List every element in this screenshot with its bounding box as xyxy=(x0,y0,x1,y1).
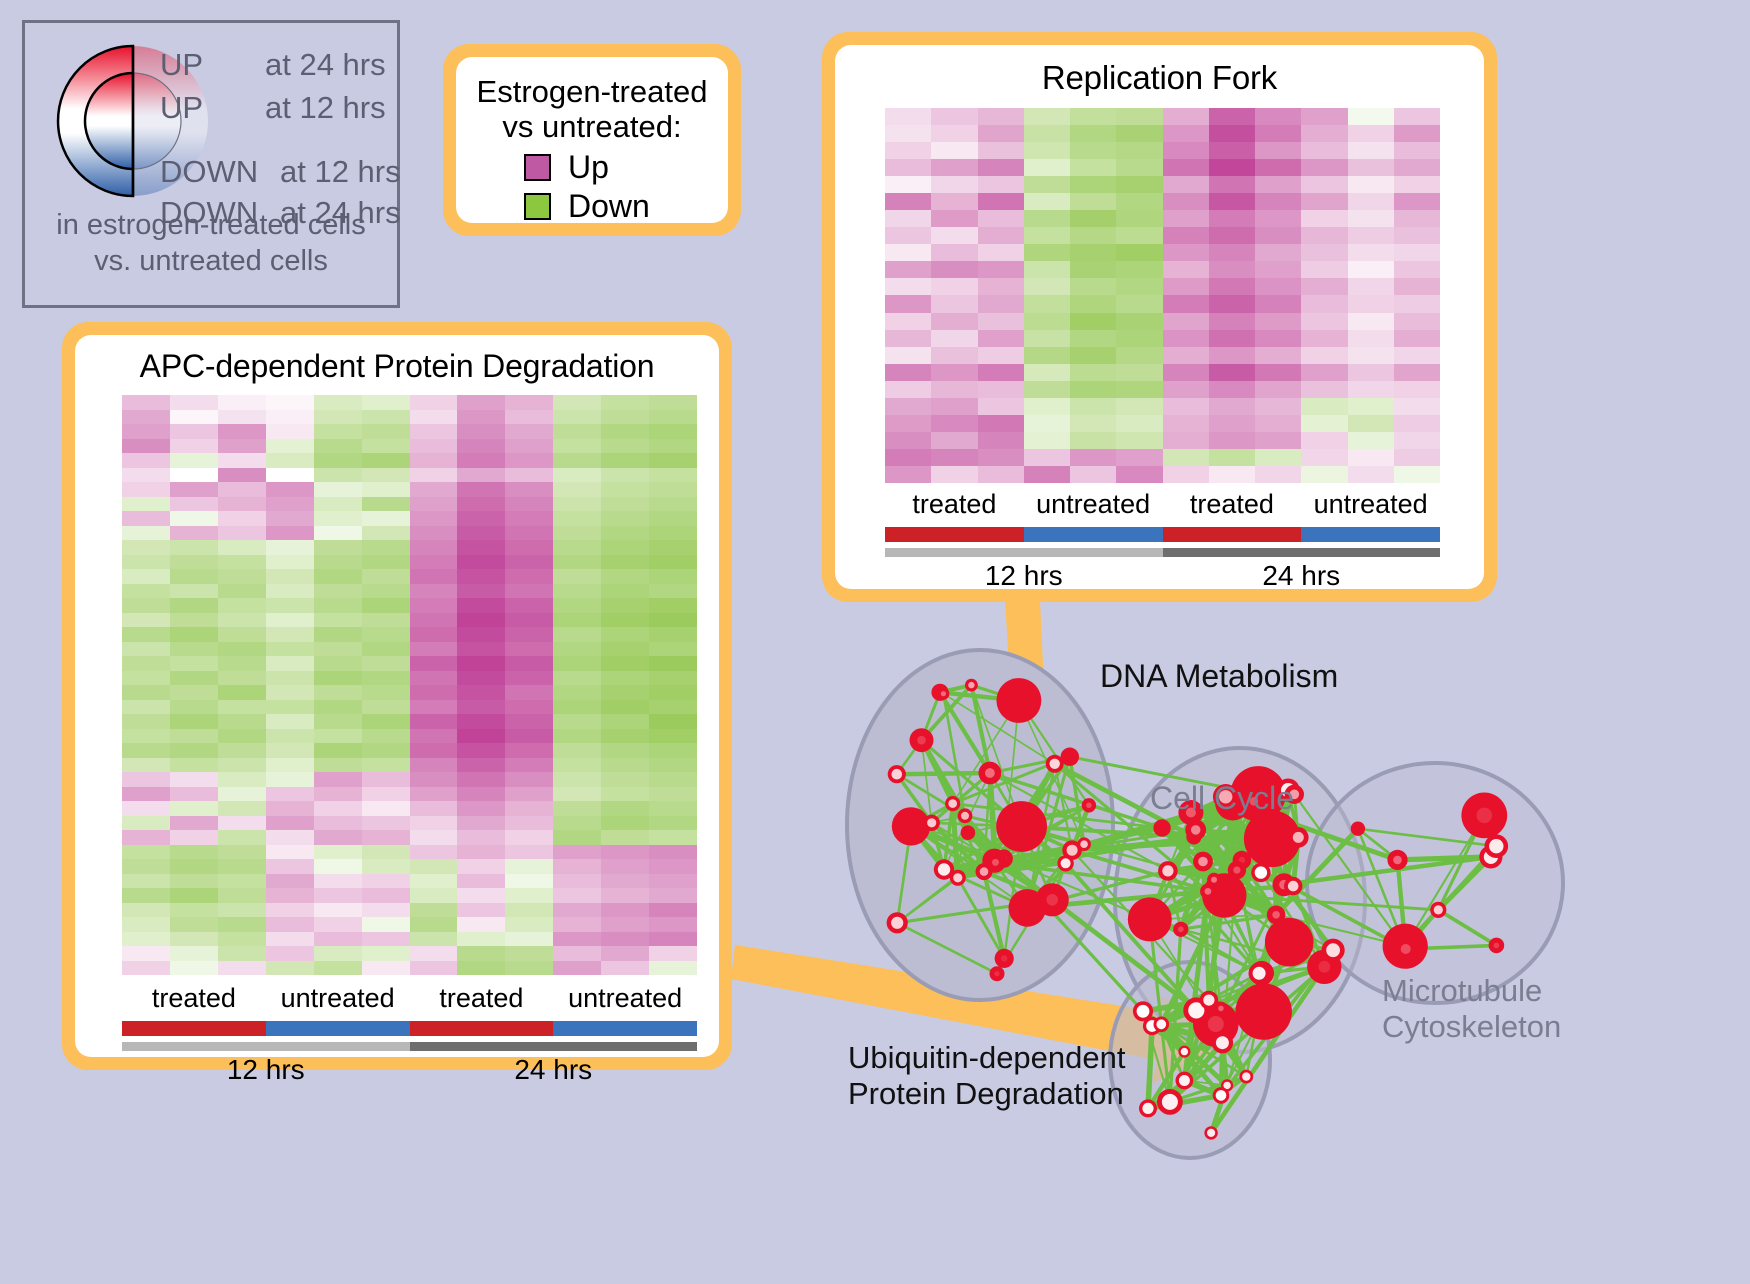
heatmap-cell xyxy=(362,424,410,439)
heatmap-cell xyxy=(457,816,505,831)
heatmap-cell xyxy=(362,946,410,961)
heatmap-cell xyxy=(885,176,931,193)
heatmap-cell xyxy=(170,584,218,599)
heatmap-cell xyxy=(362,410,410,425)
network-node[interactable] xyxy=(1267,906,1286,925)
heatmap-cell xyxy=(218,874,266,889)
network-node[interactable] xyxy=(995,949,1014,968)
heatmap-cell xyxy=(410,439,458,454)
heatmap-cell xyxy=(1394,295,1440,312)
node-core xyxy=(1046,894,1058,906)
heatmap-cell xyxy=(170,816,218,831)
heatmap-cell xyxy=(978,278,1024,295)
heatmap-cell xyxy=(553,497,601,512)
heatmap-cell xyxy=(553,627,601,642)
heatmap-cell xyxy=(649,685,697,700)
network-node[interactable] xyxy=(950,870,966,886)
node-core xyxy=(1477,808,1493,824)
heatmap-cell xyxy=(122,859,170,874)
heatmap-cell xyxy=(122,946,170,961)
network-node[interactable] xyxy=(1236,983,1292,1039)
heatmap-cell xyxy=(1394,432,1440,449)
network-node[interactable] xyxy=(1485,834,1509,858)
network-node[interactable] xyxy=(1185,820,1206,841)
heatmap-cell xyxy=(122,627,170,642)
heatmap-cell xyxy=(122,845,170,860)
heatmap-cell xyxy=(553,598,601,613)
heatmap-cell xyxy=(649,526,697,541)
node-core xyxy=(961,812,969,820)
node-core xyxy=(1178,926,1184,932)
legend-value-up-24: at 24 hrs xyxy=(265,47,386,83)
replication-fork-heatmap xyxy=(885,108,1440,483)
heatmap-cell xyxy=(1348,176,1394,193)
heatmap-cell xyxy=(218,903,266,918)
heatmap-cell xyxy=(649,845,697,860)
heatmap-cell xyxy=(1301,347,1347,364)
network-node[interactable] xyxy=(1263,823,1285,845)
network-node[interactable] xyxy=(997,678,1042,723)
condition-bar-segment xyxy=(410,1021,554,1036)
node-core xyxy=(1253,967,1266,980)
heatmap-cell xyxy=(314,569,362,584)
node-core xyxy=(1086,803,1092,809)
heatmap-cell xyxy=(885,449,931,466)
heatmap-cell xyxy=(170,555,218,570)
heatmap-cell xyxy=(314,917,362,932)
network-node[interactable] xyxy=(1153,819,1170,836)
heatmap-cell xyxy=(362,671,410,686)
heatmap-cell xyxy=(505,917,553,932)
heatmap-cell xyxy=(314,642,362,657)
heatmap-cell xyxy=(1255,261,1301,278)
heatmap-cell xyxy=(649,830,697,845)
node-core xyxy=(917,736,926,745)
heatmap-cell xyxy=(266,642,314,657)
node-ring xyxy=(1061,748,1079,766)
heatmap-cell xyxy=(1209,125,1255,142)
network-edge xyxy=(1398,857,1491,860)
heatmap-cell xyxy=(1348,125,1394,142)
heatmap-cell xyxy=(505,830,553,845)
heatmap-cell xyxy=(170,540,218,555)
network-node[interactable] xyxy=(1128,897,1172,941)
network-node[interactable] xyxy=(937,688,949,700)
heatmap-cell xyxy=(1070,210,1116,227)
heatmap-cell xyxy=(1024,381,1070,398)
heatmap-cell xyxy=(553,540,601,555)
heatmap-cell xyxy=(266,424,314,439)
node-ring xyxy=(1153,819,1170,836)
heatmap-cell xyxy=(1301,244,1347,261)
heatmap-cell xyxy=(1301,210,1347,227)
network-node[interactable] xyxy=(965,679,978,692)
heatmap-cell xyxy=(457,482,505,497)
network-node[interactable] xyxy=(1200,991,1219,1010)
up-color-swatch xyxy=(524,154,551,181)
heatmap-cell xyxy=(931,466,977,483)
network-node[interactable] xyxy=(1212,1032,1233,1053)
heatmap-cell xyxy=(601,917,649,932)
heatmap-cell xyxy=(1301,261,1347,278)
heatmap-cell xyxy=(1209,108,1255,125)
network-node[interactable] xyxy=(1393,936,1419,962)
heatmap-cell xyxy=(1024,295,1070,312)
heatmap-cell xyxy=(553,569,601,584)
heatmap-cell xyxy=(601,729,649,744)
heatmap-cell xyxy=(1209,347,1255,364)
heatmap-cell xyxy=(1070,142,1116,159)
node-core xyxy=(891,917,903,929)
heatmap-cell xyxy=(1255,398,1301,415)
heatmap-cell xyxy=(1163,330,1209,347)
node-ring xyxy=(1263,823,1285,845)
heatmap-cell xyxy=(1255,210,1301,227)
heatmap-cell xyxy=(410,395,458,410)
heatmap-cell xyxy=(314,511,362,526)
heatmap-cell xyxy=(601,598,649,613)
heatmap-cell xyxy=(1163,142,1209,159)
heatmap-cell xyxy=(553,729,601,744)
heatmap-cell xyxy=(931,261,977,278)
heatmap-cell xyxy=(266,917,314,932)
network-node[interactable] xyxy=(887,912,908,933)
network-node[interactable] xyxy=(1009,889,1047,927)
heatmap-cell xyxy=(649,453,697,468)
heatmap-cell xyxy=(553,671,601,686)
heatmap-cell xyxy=(362,497,410,512)
network-node[interactable] xyxy=(1251,863,1270,882)
heatmap-cell xyxy=(1255,193,1301,210)
time-bar-segment xyxy=(1163,548,1441,557)
network-node[interactable] xyxy=(979,762,1002,785)
heatmap-cell xyxy=(1348,295,1394,312)
heatmap-cell xyxy=(410,961,458,976)
heatmap-cell xyxy=(1116,210,1162,227)
heatmap-cell xyxy=(457,439,505,454)
heatmap-cell xyxy=(1348,244,1394,261)
heatmap-cell xyxy=(122,526,170,541)
network-node[interactable] xyxy=(1193,852,1213,872)
network-node[interactable] xyxy=(1178,1046,1190,1058)
heatmap-cell xyxy=(649,439,697,454)
network-node[interactable] xyxy=(945,796,960,811)
heatmap-cell xyxy=(601,569,649,584)
network-node[interactable] xyxy=(1265,918,1314,967)
heatmap-cell xyxy=(314,932,362,947)
heatmap-cell xyxy=(649,671,697,686)
heatmap-cell xyxy=(931,381,977,398)
heatmap-cell xyxy=(218,743,266,758)
heatmap-cell xyxy=(122,424,170,439)
heatmap-cell xyxy=(170,772,218,787)
node-core xyxy=(1401,944,1411,954)
heatmap-cell xyxy=(885,432,931,449)
heatmap-cell xyxy=(1348,398,1394,415)
heatmap-cell xyxy=(362,845,410,860)
heatmap-cell xyxy=(505,859,553,874)
heatmap-cell xyxy=(1024,330,1070,347)
heatmap-cell xyxy=(457,526,505,541)
heatmap-cell xyxy=(931,295,977,312)
heatmap-cell xyxy=(362,685,410,700)
heatmap-cell xyxy=(1116,108,1162,125)
heatmap-cell xyxy=(218,439,266,454)
heatmap-cell xyxy=(410,772,458,787)
network-node[interactable] xyxy=(888,765,906,783)
heatmap-cell xyxy=(1024,347,1070,364)
network-node[interactable] xyxy=(996,801,1047,852)
heatmap-cell xyxy=(170,627,218,642)
heatmap-cell xyxy=(1255,415,1301,432)
heatmap-cell xyxy=(978,381,1024,398)
heatmap-cell xyxy=(649,729,697,744)
network-svg xyxy=(770,600,1750,1279)
heatmap-cell xyxy=(1394,193,1440,210)
heatmap-cell xyxy=(1255,278,1301,295)
heatmap-cell xyxy=(314,685,362,700)
node-core xyxy=(1207,1129,1215,1137)
heatmap-cell xyxy=(553,526,601,541)
heatmap-cell xyxy=(314,439,362,454)
heatmap-cell xyxy=(457,671,505,686)
heatmap-cell xyxy=(170,903,218,918)
heatmap-cell xyxy=(266,903,314,918)
heatmap-cell xyxy=(553,656,601,671)
heatmap-cell xyxy=(266,685,314,700)
heatmap-cell xyxy=(649,772,697,787)
heatmap-cell xyxy=(266,453,314,468)
heatmap-cell xyxy=(978,108,1024,125)
network-node[interactable] xyxy=(1057,855,1073,871)
heatmap-cell xyxy=(601,816,649,831)
heatmap-cell xyxy=(1116,466,1162,483)
network-node[interactable] xyxy=(1176,1072,1194,1090)
heatmap-cell xyxy=(266,801,314,816)
heatmap-cell xyxy=(410,555,458,570)
heatmap-cell xyxy=(218,656,266,671)
heatmap-cell xyxy=(266,772,314,787)
network-node[interactable] xyxy=(1139,1099,1157,1117)
heatmap-cell xyxy=(1070,466,1116,483)
node-core xyxy=(980,867,989,876)
network-node[interactable] xyxy=(1387,850,1407,870)
heatmap-cell xyxy=(1024,364,1070,381)
heatmap-cell xyxy=(457,772,505,787)
network-node[interactable] xyxy=(1204,1126,1217,1139)
network-node[interactable] xyxy=(1284,877,1302,895)
heatmap-cell xyxy=(601,801,649,816)
heatmap-cell xyxy=(1070,108,1116,125)
panel-apc-degradation: APC-dependent Protein Degradation treate… xyxy=(62,322,732,1070)
condition-bar-segment xyxy=(122,1021,266,1036)
heatmap-cell xyxy=(1255,125,1301,142)
network-node[interactable] xyxy=(1213,1087,1230,1104)
time-bar-segment xyxy=(410,1042,698,1051)
heatmap-cell xyxy=(1394,244,1440,261)
heatmap-cell xyxy=(218,584,266,599)
heatmap-cell xyxy=(457,642,505,657)
heatmap-cell xyxy=(1163,125,1209,142)
heatmap-cell xyxy=(122,816,170,831)
heatmap-cell xyxy=(1301,466,1347,483)
heatmap-cell xyxy=(218,424,266,439)
heatmap-cell xyxy=(314,816,362,831)
heatmap-cell xyxy=(266,932,314,947)
heatmap-cell xyxy=(1394,227,1440,244)
heatmap-cell xyxy=(122,917,170,932)
heatmap-cell xyxy=(410,787,458,802)
condition-label: untreated xyxy=(266,983,410,1014)
heatmap-cell xyxy=(362,540,410,555)
heatmap-cell xyxy=(314,961,362,976)
network-node[interactable] xyxy=(990,966,1005,981)
heatmap-cell xyxy=(1116,381,1162,398)
heatmap-cell xyxy=(170,743,218,758)
time-bar-segment xyxy=(122,1042,410,1051)
network-node[interactable] xyxy=(1228,861,1246,879)
heatmap-cell xyxy=(978,398,1024,415)
heatmap-cell xyxy=(553,801,601,816)
heatmap-cell xyxy=(649,497,697,512)
condition-bar-segment xyxy=(1301,527,1440,542)
legend-key-up-24: UP xyxy=(160,47,203,83)
node-core xyxy=(1434,905,1443,914)
heatmap-cell xyxy=(457,714,505,729)
heatmap-cell xyxy=(1163,466,1209,483)
heatmap-cell xyxy=(1348,193,1394,210)
network-node[interactable] xyxy=(958,808,973,823)
heatmap-cell xyxy=(1070,381,1116,398)
heatmap-cell xyxy=(410,468,458,483)
heatmap-cell xyxy=(1163,193,1209,210)
network-node[interactable] xyxy=(1489,938,1505,954)
heatmap-cell xyxy=(553,758,601,773)
heatmap-cell xyxy=(218,671,266,686)
heatmap-cell xyxy=(1394,398,1440,415)
network-node[interactable] xyxy=(1077,837,1091,851)
replication-fork-title: Replication Fork xyxy=(835,45,1484,97)
network-node[interactable] xyxy=(961,825,976,840)
heatmap-cell xyxy=(314,453,362,468)
network-node[interactable] xyxy=(1239,1070,1253,1084)
heatmap-cell xyxy=(410,859,458,874)
network-node[interactable] xyxy=(1082,798,1096,812)
estrogen-legend-title-line2: vs untreated: xyxy=(466,110,718,145)
heatmap-cell xyxy=(885,278,931,295)
heatmap-cell xyxy=(362,555,410,570)
heatmap-cell xyxy=(885,330,931,347)
network-node[interactable] xyxy=(1154,1017,1170,1033)
condition-label: treated xyxy=(122,983,266,1014)
heatmap-cell xyxy=(314,830,362,845)
network-node[interactable] xyxy=(1249,963,1270,984)
heatmap-cell xyxy=(170,410,218,425)
legend-value-down-12: at 12 hrs xyxy=(280,154,401,190)
heatmap-cell xyxy=(601,656,649,671)
heatmap-cell xyxy=(266,468,314,483)
heatmap-cell xyxy=(1255,466,1301,483)
heatmap-cell xyxy=(218,845,266,860)
heatmap-cell xyxy=(170,946,218,961)
heatmap-cell xyxy=(1070,278,1116,295)
heatmap-cell xyxy=(170,482,218,497)
network-node[interactable] xyxy=(1288,827,1309,848)
heatmap-cell xyxy=(457,598,505,613)
heatmap-cell xyxy=(1301,398,1347,415)
heatmap-cell xyxy=(505,410,553,425)
heatmap-cell xyxy=(362,598,410,613)
heatmap-cell xyxy=(885,347,931,364)
heatmap-cell xyxy=(505,468,553,483)
heatmap-cell xyxy=(1163,227,1209,244)
heatmap-cell xyxy=(410,424,458,439)
network-node[interactable] xyxy=(1322,939,1345,962)
network-node[interactable] xyxy=(1351,822,1365,836)
heatmap-cell xyxy=(122,453,170,468)
node-core xyxy=(941,691,946,696)
heatmap-cell xyxy=(362,816,410,831)
heatmap-cell xyxy=(1348,432,1394,449)
heatmap-cell xyxy=(314,700,362,715)
network-node[interactable] xyxy=(924,815,940,831)
network-node[interactable] xyxy=(910,728,934,752)
heatmap-cell xyxy=(218,526,266,541)
network-node[interactable] xyxy=(1461,793,1507,839)
heatmap-cell xyxy=(457,859,505,874)
network-node[interactable] xyxy=(1061,748,1079,766)
replication-time-labels: 12 hrs24 hrs xyxy=(885,560,1440,592)
node-core xyxy=(953,873,962,882)
network-node[interactable] xyxy=(1157,1089,1183,1115)
heatmap-cell xyxy=(266,555,314,570)
node-core xyxy=(1198,857,1208,867)
network-node[interactable] xyxy=(1158,861,1178,881)
heatmap-cell xyxy=(1116,159,1162,176)
network-node[interactable] xyxy=(1173,922,1188,937)
heatmap-cell xyxy=(1301,142,1347,159)
heatmap-cell xyxy=(457,874,505,889)
heatmap-cell xyxy=(122,584,170,599)
heatmap-cell xyxy=(218,772,266,787)
network-node[interactable] xyxy=(1207,873,1221,887)
heatmap-cell xyxy=(1348,159,1394,176)
heatmap-cell xyxy=(170,700,218,715)
heatmap-cell xyxy=(931,398,977,415)
network-node[interactable] xyxy=(976,863,993,880)
heatmap-cell xyxy=(1394,347,1440,364)
heatmap-cell xyxy=(266,888,314,903)
heatmap-cell xyxy=(505,656,553,671)
heatmap-cell xyxy=(931,278,977,295)
heatmap-cell xyxy=(553,453,601,468)
heatmap-cell xyxy=(218,932,266,947)
heatmap-cell xyxy=(885,210,931,227)
heatmap-cell xyxy=(362,453,410,468)
heatmap-cell xyxy=(1116,278,1162,295)
heatmap-cell xyxy=(1209,142,1255,159)
heatmap-cell xyxy=(218,801,266,816)
heatmap-cell xyxy=(122,439,170,454)
heatmap-cell xyxy=(1209,449,1255,466)
heatmap-cell xyxy=(122,511,170,526)
heatmap-cell xyxy=(601,584,649,599)
heatmap-cell xyxy=(1348,364,1394,381)
heatmap-cell xyxy=(1209,398,1255,415)
heatmap-cell xyxy=(885,193,931,210)
network-node[interactable] xyxy=(1430,902,1446,918)
heatmap-cell xyxy=(457,497,505,512)
